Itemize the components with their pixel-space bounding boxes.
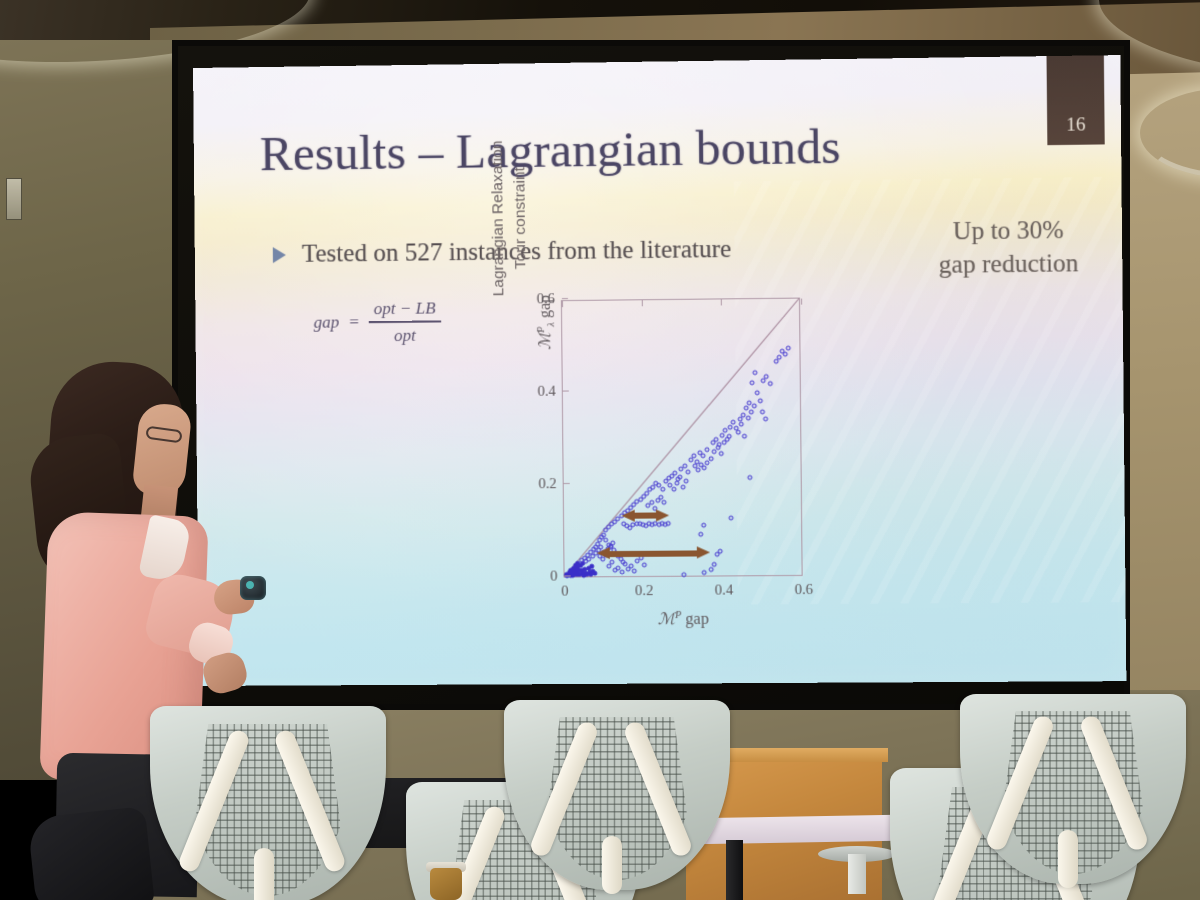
x-tick-label: 0.2 [635,583,654,600]
scatter-point [708,567,713,572]
scatter-point [671,486,676,491]
scatter-point [681,484,686,489]
gap-reduction-arrow-lower [597,547,710,561]
y-tick-label: 0.6 [536,291,554,308]
chart-x-axis-label: ℳP gap [564,608,803,630]
scatter-point [702,466,707,471]
x-tick-label: 0.4 [715,582,734,599]
scatter-point [748,410,753,415]
scatter-point [702,570,707,575]
scatter-point [764,374,769,379]
scatter-point [702,523,707,528]
y-tick-mark [564,483,570,484]
wall-plate [6,178,22,220]
scatter-point [750,380,755,385]
scatter-point [712,562,717,567]
arrow-shaft [633,513,659,519]
scatter-point [691,454,696,459]
x-tick-mark [721,299,722,305]
formula-equals: = [348,312,360,332]
annotation-line-1: Up to 30% [911,213,1106,249]
scatter-point [672,470,677,475]
plot-area: 00.20.40.600.20.40.6 [561,298,803,578]
scatter-point [783,352,788,357]
y-tick-label: 0 [550,568,557,585]
y-tick-label: 0.4 [537,383,555,400]
scatter-chart: Lagrangian Relaxation Tour constraint ℳP… [496,287,834,642]
chart-group-label-line-1: Lagrangian Relaxation [487,118,512,319]
bag [27,806,155,900]
scatter-point [622,562,627,567]
x-tick-label: 0.6 [795,582,814,599]
scatter-point [592,571,597,576]
scatter-point [731,420,736,425]
scatter-point [674,481,679,486]
scatter-point [729,515,734,520]
y-tick-mark [565,575,571,576]
scatter-point [725,437,730,442]
table-base-stem [848,854,866,894]
annotation-line-2: gap reduction [911,247,1106,283]
formula-denominator: opt [389,324,421,346]
scatter-point [763,416,768,421]
scatter-point [632,569,637,574]
scatter-point [742,434,747,439]
chair-frame-stem [254,848,274,900]
gap-formula: gap = opt − LB opt [313,297,441,346]
scatter-point [606,564,611,569]
arrow-shaft [608,550,698,557]
scatter-point [681,572,686,577]
scatter-point [728,425,733,430]
chart-group-label: Lagrangian Relaxation Tour constraint [487,118,534,319]
scatter-point [758,398,763,403]
slide-number-badge: 16 [1047,55,1105,145]
scatter-point [723,428,728,433]
slide-title: Results – Lagrangian bounds [260,118,842,183]
coffee-cup [430,868,462,900]
scatter-point [641,562,646,567]
presentation-slide: 16 Results – Lagrangian bounds Tested on… [193,55,1126,686]
scatter-point [718,549,723,554]
y-tick-label: 0.2 [538,476,556,493]
chair-frame-stem [1058,830,1078,888]
chart-y-axis-label: ℳPλ gap [534,262,558,383]
y-tick-mark [563,391,569,392]
reference-diagonal-line [562,299,802,577]
scatter-point [601,532,606,537]
scatter-point [767,381,772,386]
scatter-point [745,415,750,420]
presentation-clicker [240,576,266,600]
scatter-point [773,359,778,364]
scatter-point [685,469,690,474]
arrow-head-right [696,547,709,559]
gap-reduction-arrow-upper [622,509,670,522]
x-tick-mark [562,301,563,307]
formula-lhs: gap [314,312,340,332]
x-tick-label: 0 [561,584,568,601]
scatter-point [753,370,758,375]
scatter-point [684,479,689,484]
scatter-point [701,454,706,459]
chair [150,706,386,900]
scatter-point [698,531,703,536]
scatter-point [760,409,765,414]
x-tick-mark [801,299,802,305]
scatter-point [677,475,682,480]
chair [960,694,1186,884]
scatter-point [619,570,624,575]
scatter-point [649,500,654,505]
chair [504,700,730,890]
conference-room-photo: 16 Results – Lagrangian bounds Tested on… [0,0,1200,900]
x-tick-mark [641,300,642,306]
triangle-bullet-icon [273,247,286,263]
chart-group-label-line-2: Tour constraint [509,118,534,319]
formula-numerator: opt − LB [369,297,441,319]
scatter-point [777,355,782,360]
scatter-point [739,422,744,427]
scatter-point [662,500,667,505]
scatter-point [755,390,760,395]
chair-frame-stem [602,836,622,894]
scatter-point [786,345,791,350]
scatter-point [714,437,719,442]
scatter-point [752,403,757,408]
scatter-point [658,495,663,500]
scatter-point [708,456,713,461]
scatter-point [715,445,720,450]
scatter-point [747,475,752,480]
arrow-head-right [656,509,669,521]
formula-fraction-bar [369,321,441,323]
scatter-point [660,486,665,491]
clicker-led-icon [246,581,254,589]
scatter-point [682,463,687,468]
formula-fraction: opt − LB opt [369,297,441,346]
scatter-point [704,447,709,452]
gap-reduction-annotation: Up to 30% gap reduction [911,213,1106,282]
scatter-point [736,430,741,435]
y-tick-mark [562,298,568,299]
scatter-point [629,563,634,568]
scatter-point [695,467,700,472]
scatter-point [718,451,723,456]
